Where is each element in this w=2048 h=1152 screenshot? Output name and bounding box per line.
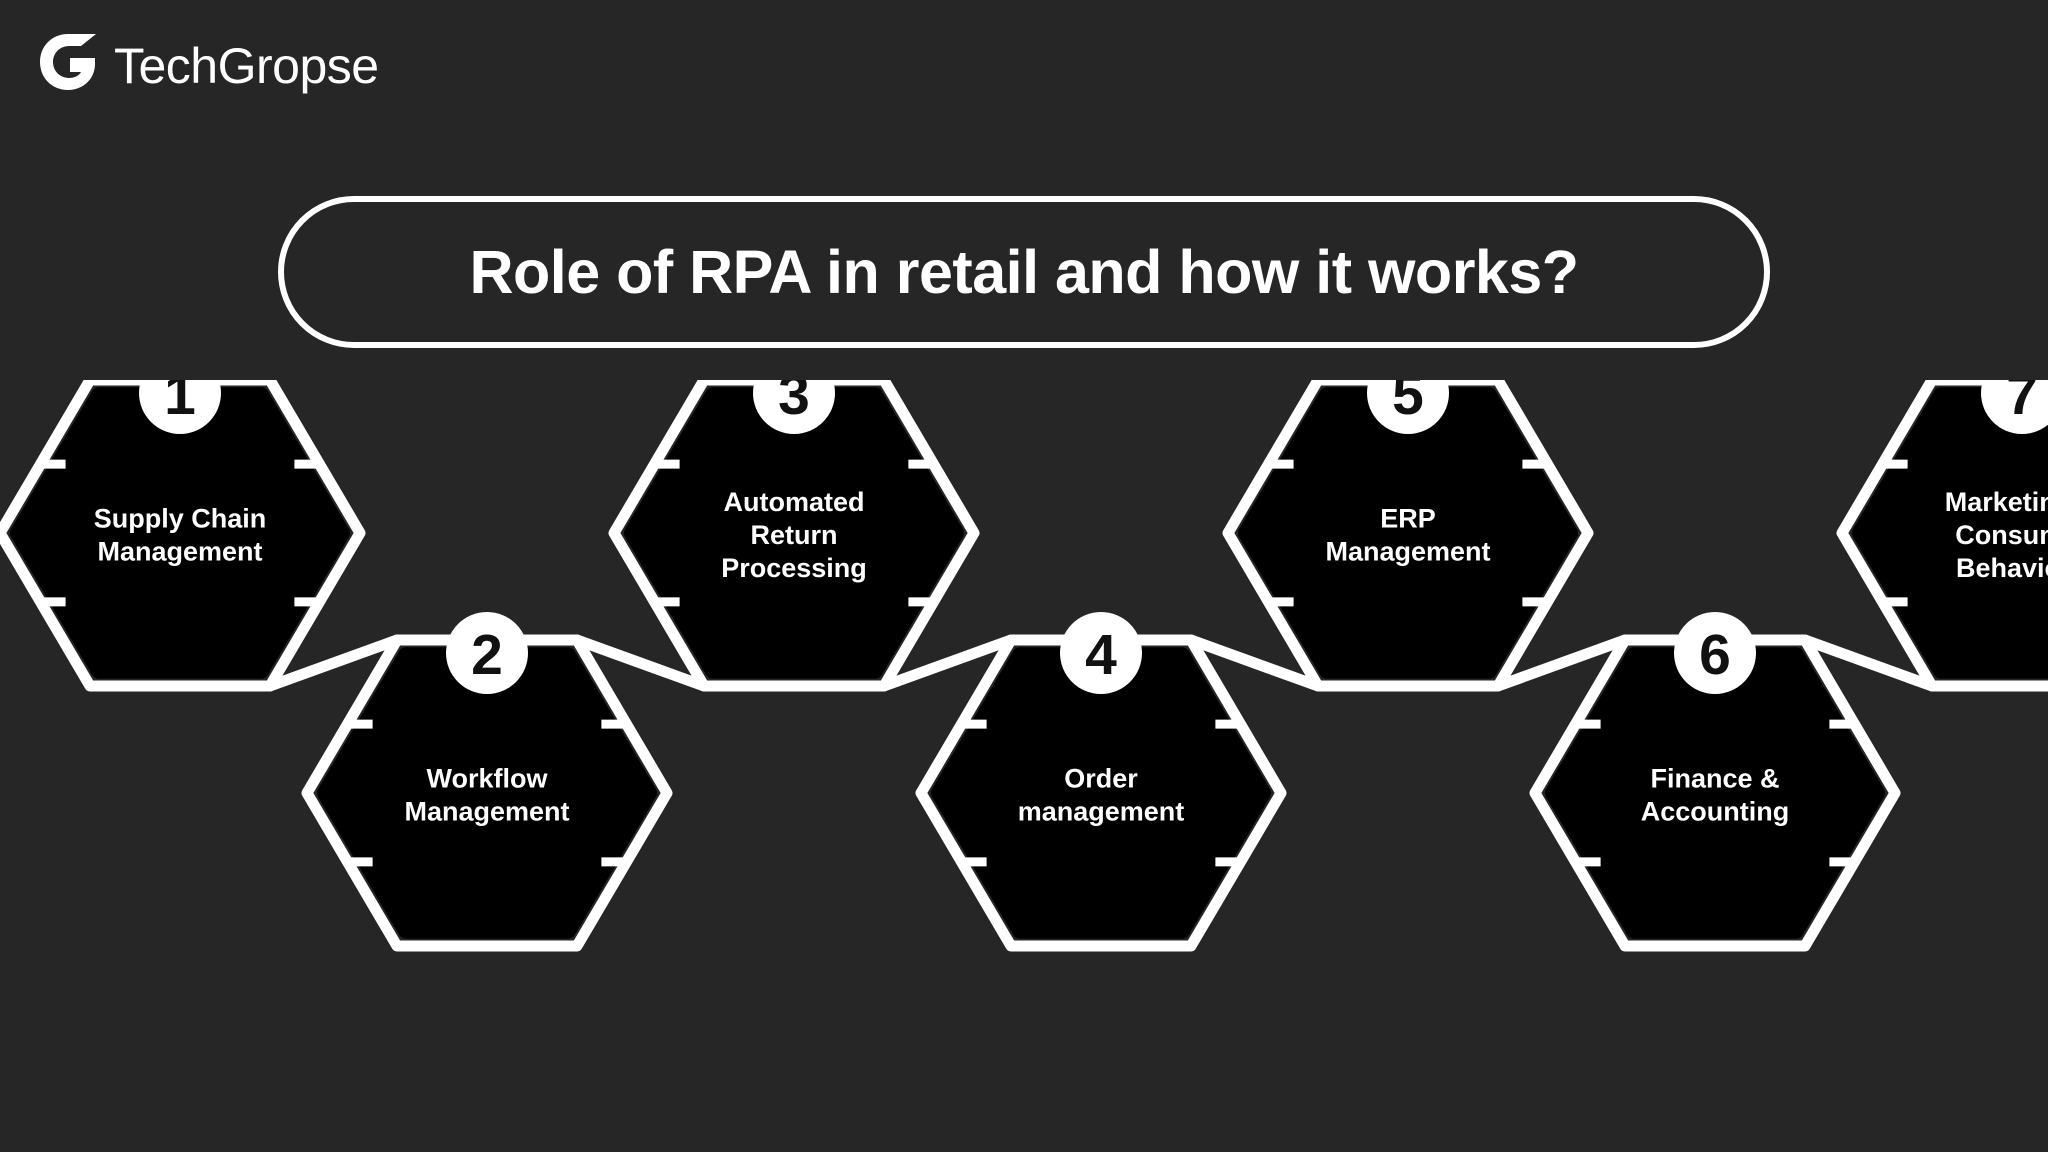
hexagon-label-line: Accounting xyxy=(1641,797,1790,827)
brand-wordmark: TechGropse xyxy=(114,41,379,91)
hexagon-label-line: ERP xyxy=(1380,504,1436,534)
hexagon-label-line: Automated xyxy=(724,487,865,517)
step-number-badge-4: 4 xyxy=(1060,612,1142,694)
badge-number: 7 xyxy=(2006,380,2038,427)
hexagon-step-6[interactable]: Finance &Accounting6 xyxy=(1535,612,1895,946)
badge-number: 5 xyxy=(1392,380,1424,427)
badge-number: 1 xyxy=(164,380,196,427)
step-number-badge-2: 2 xyxy=(446,612,528,694)
page-title: Role of RPA in retail and how it works? xyxy=(469,242,1578,303)
hexagon-step-3[interactable]: AutomatedReturnProcessing3 xyxy=(614,380,974,686)
hexagon-label-line: Consumer xyxy=(1955,520,2048,550)
hexagon-label-line: Management xyxy=(404,797,569,827)
hexagon-step-4[interactable]: Ordermanagement4 xyxy=(921,612,1281,946)
infographic-canvas: TechGropse Role of RPA in retail and how… xyxy=(0,0,2048,1152)
hexagon-label-line: Order xyxy=(1064,764,1138,794)
badge-number: 2 xyxy=(471,623,503,687)
hexagon-label-line: Processing xyxy=(721,553,867,583)
hexagon-label-line: Supply Chain xyxy=(94,504,267,534)
hexagon-label-line: Management xyxy=(1325,537,1490,567)
hexagon-step-2[interactable]: WorkflowManagement2 xyxy=(307,612,667,946)
hexagon-step-7[interactable]: Marketing &ConsumerBehaviour7 xyxy=(1842,380,2048,686)
hexagon-chain-diagram: Supply ChainManagement1WorkflowManagemen… xyxy=(0,380,2048,1120)
title-banner: Role of RPA in retail and how it works? xyxy=(278,196,1770,348)
hexagon-label-line: management xyxy=(1018,797,1185,827)
step-number-badge-6: 6 xyxy=(1674,612,1756,694)
techgropse-g-logo-icon xyxy=(38,32,100,99)
badge-number: 6 xyxy=(1699,623,1731,687)
badge-number: 4 xyxy=(1085,623,1117,687)
brand-logo: TechGropse xyxy=(38,32,379,99)
badge-number: 3 xyxy=(778,380,810,427)
hexagon-label-line: Finance & xyxy=(1650,764,1779,794)
hexagon-label-line: Return xyxy=(751,520,838,550)
hexagon-label-line: Management xyxy=(97,537,262,567)
hexagon-label-line: Behaviour xyxy=(1956,553,2048,583)
hexagon-label-line: Workflow xyxy=(427,764,549,794)
hexagon-label-line: Marketing & xyxy=(1945,487,2048,517)
hexagon-step-5[interactable]: ERPManagement5 xyxy=(1228,380,1588,686)
hexagon-step-1[interactable]: Supply ChainManagement1 xyxy=(0,380,360,686)
hexagon-chain-svg: Supply ChainManagement1WorkflowManagemen… xyxy=(0,380,2048,1120)
